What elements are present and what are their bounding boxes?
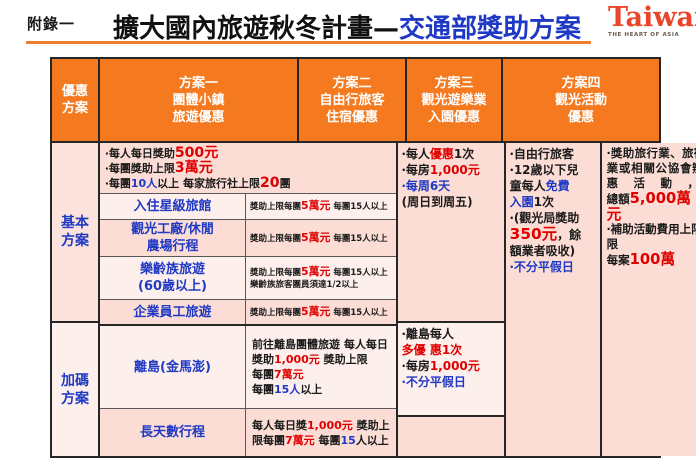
table-header-plan4-l3: 優惠 <box>555 109 607 126</box>
plan1-row-corporate-note: 獎助上限每團5萬元 每團15人以上 <box>246 300 396 324</box>
table-header-plan2: 方案二 自由行旅客 住宿優惠 <box>299 59 407 141</box>
plan1-row-factory-farm-note-post: 每團15人以上 <box>333 234 387 244</box>
plan1-intro-b2-amt: 3萬元 <box>175 160 213 176</box>
plan2-empty-cell <box>398 417 504 456</box>
title-underline-rule <box>26 41 591 44</box>
plan1-intro-b3-num2: 20 <box>260 175 280 191</box>
scheme-group-column: 基本 方案 加碼 方案 <box>52 143 100 456</box>
table-header-scheme: 優惠 方案 <box>52 59 100 141</box>
plan1-row-hotel-note-post: 每團15人以上 <box>333 202 387 212</box>
table-header-plan4-l1: 方案四 <box>555 75 607 92</box>
table-header-plan1-l3: 旅遊優惠 <box>172 109 224 126</box>
table-header-plan1-l2: 團體小鎮 <box>172 92 224 109</box>
plan4-b2: ‧補助活動費用上限80% 上限 <box>607 222 696 252</box>
plan1-row-corporate: 企業員工旅遊 獎助上限每團5萬元 每團15人以上 <box>100 300 396 326</box>
plan3-b3-blue: 入園 <box>510 195 534 209</box>
plan3-b1: ‧自由行旅客 <box>510 146 596 162</box>
table-header-scheme-l1: 優惠 <box>62 83 88 100</box>
plan1-row-hotel-note-pre: 獎助上限每團 <box>250 202 301 212</box>
plan1-row-factory-farm-note-amt: 5萬元 <box>301 231 330 244</box>
plan1-row-senior-note-amt: 5萬元 <box>301 265 330 278</box>
plan1-bonus-offshore-t2-post: 獎助上限 <box>324 353 368 366</box>
plan1-bonus-longstay-t2-mid: 每團 <box>319 434 341 447</box>
plan1-intro-bullet-3: ‧每團10人以上 每家旅行社上限20團 <box>105 176 391 191</box>
plan1-row-factory-farm-label-l1: 觀光工廠/休閒 <box>131 221 214 238</box>
plan2-bonus-b1: ‧離島每人 <box>402 326 500 342</box>
plan2-basic-cell: ‧每人優惠1次 ‧每房1,000元 ‧每周6天 (周日到周五) <box>398 143 504 323</box>
table-header-plan3-l2: 觀光遊樂業 <box>421 92 486 109</box>
table-header-scheme-l2: 方案 <box>62 100 88 117</box>
plan1-bonus-longstay: 長天數行程 每人每日獎1,000元 獎助上 限每團7萬元 每團15人以上 <box>100 409 396 456</box>
plan1-intro-b3-post: 團 <box>280 177 291 190</box>
plan1-bonus-longstay-t1-pre: 每人每日獎 <box>252 419 307 432</box>
plan1-row-factory-farm-note: 獎助上限每團5萬元 每團15人以上 <box>246 220 396 256</box>
plan1-intro-b3-mid: 以上 每家旅行社上限 <box>157 177 260 190</box>
plan3-b2-pre: ‧12歲以下兒 <box>510 162 596 178</box>
slide-header: 附錄一 擴大國內旅遊秋冬計畫—交通部獎助方案 Taiwan THE HEART … <box>0 0 696 52</box>
plan2-basic-b1-pre: ‧每人 <box>402 147 430 161</box>
plan1-row-hotel: 入住星級旅館 獎助上限每團5萬元 每團15人以上 <box>100 194 396 220</box>
plan1-row-hotel-label: 入住星級旅館 <box>100 194 246 219</box>
table-header-plan4: 方案四 觀光活動 優惠 <box>503 59 659 141</box>
plan2-bonus-b4: ‧不分平假日 <box>402 374 500 390</box>
group-bonus-l1: 加碼 <box>61 372 89 390</box>
plan1-row-senior-note-post: 每團15人以上 <box>333 268 387 278</box>
plan3-b3-post: 1次 <box>534 195 554 209</box>
page-title-blue: 交通部獎助方案 <box>399 14 581 44</box>
table-header-row: 優惠 方案 方案一 團體小鎮 旅遊優惠 方案二 自由行旅客 住宿優惠 <box>52 59 659 143</box>
plan1-bonus-offshore-t3-amt: 7萬元 <box>274 368 304 381</box>
plan2-bonus-b3-pre: ‧每房 <box>402 359 430 373</box>
plan2-bonus-b3-amt: 1,000元 <box>430 359 480 373</box>
plan1-intro-b3-pre: ‧每團 <box>105 177 131 190</box>
plan3-b7: ‧不分平假日 <box>510 259 596 275</box>
plan1-intro-cell: ‧每人每日獎助500元 ‧每團獎助上限3萬元 ‧每團10人以上 每家旅行社上限2… <box>100 143 396 193</box>
plan4-cell: ‧獎助旅行業、旅宿業、遊樂業或相關公協會辦理觀光優惠活動，經費 總額5,000萬… <box>602 143 696 456</box>
group-basic-plan: 基本 方案 <box>52 143 98 323</box>
plan3-b5-post: ，餘 <box>557 228 581 242</box>
plan1-row-factory-farm-note-pre: 獎助上限每團 <box>250 234 301 244</box>
group-basic-l2: 方案 <box>61 232 89 250</box>
plan1-bonus-offshore-t3-pre: 每團 <box>252 368 274 381</box>
plan1-row-senior-note: 獎助上限每團5萬元 每團15人以上 樂齡族旅客團員須達1/2以上 <box>246 257 396 299</box>
plan1-column: ‧每人每日獎助500元 ‧每團獎助上限3萬元 ‧每團10人以上 每家旅行社上限2… <box>100 143 398 456</box>
plan2-bonus-cell: ‧離島每人 多優 惠1次 ‧每房1,000元 ‧不分平假日 <box>398 323 504 417</box>
plan1-row-factory-farm: 觀光工廠/休閒 農場行程 獎助上限每團5萬元 每團15人以上 <box>100 220 396 257</box>
plan2-column: ‧每人優惠1次 ‧每房1,000元 ‧每周6天 (周日到周五) ‧離島每人 多優… <box>398 143 506 456</box>
plan2-basic-b3: ‧每周6天 <box>402 178 500 194</box>
plan1-row-hotel-note: 獎助上限每團5萬元 每團15人以上 <box>246 194 396 219</box>
plan1-bonus-offshore-t4-post: 以上 <box>300 383 322 396</box>
plan1-row-senior-label-l2: (60歲以上) <box>138 278 207 295</box>
plan1-intro-b1-pre: ‧每人每日獎助 <box>105 147 175 160</box>
plan2-basic-b4: (周日到周五) <box>402 194 500 210</box>
plan1-row-corporate-note-post: 每團15人以上 <box>333 308 387 318</box>
plan1-intro-b2-pre: ‧每團獎助上限 <box>105 162 175 175</box>
plan3-cell: ‧自由行旅客 ‧12歲以下兒 童每人免費 入園1次 ‧(觀光局獎助 350元，餘… <box>506 143 600 456</box>
plan2-basic-b1-red: 優惠 <box>430 147 454 161</box>
group-basic-l1: 基本 <box>61 214 89 232</box>
group-bonus-plan: 加碼 方案 <box>52 323 98 456</box>
plan1-row-senior-label: 樂齡族旅遊 (60歲以上) <box>100 257 246 299</box>
plan4-b2-tail: 每案 <box>607 253 630 267</box>
table-header-plan2-l1: 方案二 <box>319 75 384 92</box>
plan3-b4: ‧(觀光局獎助 <box>510 210 596 226</box>
plan1-row-senior-label-l1: 樂齡族旅遊 <box>138 261 207 278</box>
plan2-basic-b2-pre: ‧每房 <box>402 163 430 177</box>
plan1-bonus-longstay-note: 每人每日獎1,000元 獎助上 限每團7萬元 每團15人以上 <box>246 409 396 456</box>
plan2-basic-b2-amt: 1,000元 <box>430 163 480 177</box>
plan4-b2-amt: 100萬 <box>630 251 675 268</box>
plan1-row-corporate-note-pre: 獎助上限每團 <box>250 308 301 318</box>
plan2-bonus-b2: 多優 惠1次 <box>402 342 500 358</box>
plan1-bonus-longstay-t2-amt: 7萬元 <box>285 434 315 447</box>
plan1-row-factory-farm-label-l2: 農場行程 <box>131 238 214 255</box>
table-header-plan3-l3: 入園優惠 <box>421 109 486 126</box>
plan3-column: ‧自由行旅客 ‧12歲以下兒 童每人免費 入園1次 ‧(觀光局獎助 350元，餘… <box>506 143 602 456</box>
plan1-bonus-longstay-t1-amt: 1,000元 <box>307 419 353 432</box>
plan3-b5-amt: 350元 <box>510 225 557 243</box>
plan1-bonus-longstay-t2-pre: 限每團 <box>252 434 285 447</box>
plan3-b2-mid: 童每人 <box>510 179 546 193</box>
plan4-b1-tail: 總額 <box>607 192 630 206</box>
plan1-row-corporate-note-amt: 5萬元 <box>301 305 330 318</box>
plan1-bonus-offshore-t4-pre: 每團 <box>252 383 274 396</box>
table-header-plan3: 方案三 觀光遊樂業 入園優惠 <box>407 59 503 141</box>
subsidy-plan-table: 優惠 方案 方案一 團體小鎮 旅遊優惠 方案二 自由行旅客 住宿優惠 <box>50 57 661 458</box>
page-title: 擴大國內旅遊秋冬計畫—交通部獎助方案 <box>113 8 581 45</box>
table-header-plan1-l1: 方案一 <box>172 75 224 92</box>
slide-root: 附錄一 擴大國內旅遊秋冬計畫—交通部獎助方案 Taiwan THE HEART … <box>0 0 696 464</box>
plan4-b1-amt2: 元 <box>607 207 696 222</box>
table-body: 基本 方案 加碼 方案 ‧每人每日獎助500元 ‧每團獎 <box>52 143 659 456</box>
plan1-bonus-offshore-t2-amt: 1,000元 <box>274 353 320 366</box>
plan4-b1-amt: 5,000萬 <box>630 190 691 207</box>
plan4-b1: ‧獎助旅行業、旅宿業、遊樂業或相關公協會辦理觀光優惠活動，經費 <box>607 146 696 191</box>
table-header-plan1: 方案一 團體小鎮 旅遊優惠 <box>100 59 299 141</box>
table-header-plan3-l1: 方案三 <box>421 75 486 92</box>
appendix-label: 附錄一 <box>27 13 75 34</box>
plan1-row-corporate-label: 企業員工旅遊 <box>100 300 246 324</box>
plan1-bonus-offshore-t4-num: 15人 <box>274 383 300 396</box>
table-header-plan2-l2: 自由行旅客 <box>319 92 384 109</box>
plan1-bonus-offshore: 離島(金馬澎) 前往離島團體旅遊 每人每日 獎助1,000元 獎助上限 每團7萬… <box>100 326 396 409</box>
plan1-bonus-longstay-t2-post: 人以上 <box>356 434 389 447</box>
taiwan-logo: Taiwan THE HEART OF ASIA <box>608 4 696 42</box>
plan1-intro-b1-amt: 500元 <box>175 145 218 161</box>
plan3-b6: 額業者吸收) <box>510 243 596 259</box>
plan2-basic-b1-post: 1次 <box>454 147 474 161</box>
table-header-plan4-l2: 觀光活動 <box>555 92 607 109</box>
plan1-row-senior-note2: 樂齡族旅客團員須達1/2以上 <box>250 279 392 291</box>
table-header-plan2-l3: 住宿優惠 <box>319 109 384 126</box>
plan1-bonus-offshore-t1: 前往離島團體旅遊 每人每日 <box>252 337 388 352</box>
plan1-row-senior: 樂齡族旅遊 (60歲以上) 獎助上限每團5萬元 每團15人以上 樂齡族旅客團員須… <box>100 257 396 300</box>
plan1-row-senior-note-pre: 獎助上限每團 <box>250 268 301 278</box>
plan1-bonus-offshore-label: 離島(金馬澎) <box>100 326 246 408</box>
page-title-black: 擴大國內旅遊秋冬計畫— <box>113 14 399 44</box>
plan1-intro-b3-num: 10人 <box>131 177 157 190</box>
plan4-b1-amount-line: 總額5,000萬 <box>607 191 696 207</box>
plan4-b1-text: ‧獎助旅行業、旅宿業、遊樂業或相關公協會辦理觀光優惠活動，經費 <box>607 146 696 190</box>
plan1-intro-bullet-1: ‧每人每日獎助500元 <box>105 146 391 161</box>
plan1-bonus-longstay-t2-num: 15 <box>341 434 356 447</box>
plan1-bonus-offshore-note: 前往離島團體旅遊 每人每日 獎助1,000元 獎助上限 每團7萬元 每團15人以… <box>246 326 396 408</box>
plan4-b2-amount-line: 每案100萬 <box>607 252 696 268</box>
logo-wordmark: Taiwan <box>608 4 696 31</box>
plan1-intro-row: ‧每人每日獎助500元 ‧每團獎助上限3萬元 ‧每團10人以上 每家旅行社上限2… <box>100 143 396 194</box>
plan1-bonus-longstay-label: 長天數行程 <box>100 409 246 456</box>
plan1-row-hotel-note-amt: 5萬元 <box>301 199 330 212</box>
plan1-bonus-offshore-t2-pre: 獎助 <box>252 353 274 366</box>
plan1-intro-bullet-2: ‧每團獎助上限3萬元 <box>105 161 391 176</box>
plan4-column: ‧獎助旅行業、旅宿業、遊樂業或相關公協會辦理觀光優惠活動，經費 總額5,000萬… <box>602 143 696 456</box>
group-bonus-l2: 方案 <box>61 390 89 408</box>
plan3-b2-blue: 免費 <box>546 179 570 193</box>
plan4-b2-text: ‧補助活動費用上限80% 上限 <box>607 222 696 251</box>
plan1-row-factory-farm-label: 觀光工廠/休閒 農場行程 <box>100 220 246 256</box>
plan1-bonus-longstay-t1-post: 獎助上 <box>357 419 390 432</box>
